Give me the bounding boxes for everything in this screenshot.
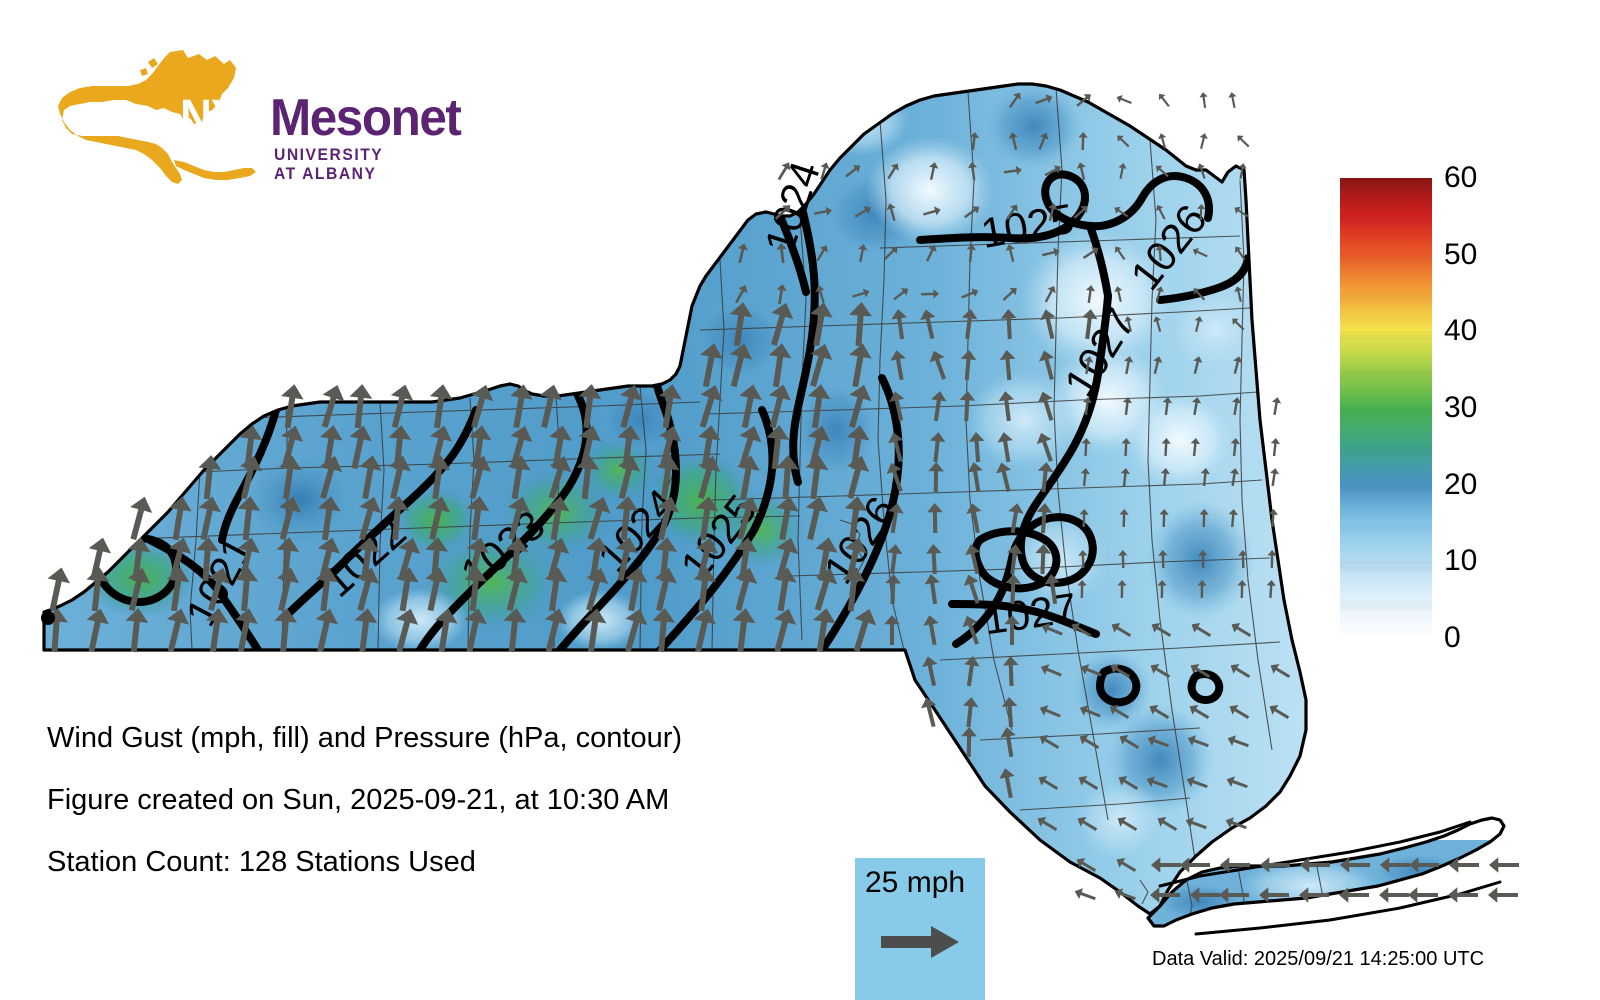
wind-arrow [1270, 396, 1282, 415]
wind-arrow [1156, 91, 1172, 109]
wind-arrow [1073, 886, 1098, 904]
wind-arrow [1268, 467, 1280, 486]
wind-arrow [1269, 438, 1280, 457]
station-marker [41, 611, 55, 625]
colorbar-tick-50: 50 [1444, 240, 1477, 270]
wind-scale-label: 25 mph [865, 866, 965, 900]
colorbar-tick-20: 20 [1444, 470, 1477, 500]
colorbar-tick-40: 40 [1444, 316, 1477, 346]
colorbar-tick-10: 10 [1444, 546, 1477, 576]
caption-created-line: Figure created on Sun, 2025-09-21, at 10… [47, 784, 669, 817]
wind-arrow [1197, 132, 1209, 150]
data-valid-timestamp: Data Valid: 2025/09/21 14:25:00 UTC [1152, 948, 1484, 971]
gust-colorbar: 0102030405060 [1340, 178, 1432, 638]
weather-map-figure: NYS Mesonet UNIVERSITY AT ALBANY [0, 0, 1600, 1000]
wind-arrow [1199, 91, 1209, 108]
wind-arrow [1234, 132, 1251, 149]
wind-arrow-icon [879, 920, 961, 964]
wind-arrow [1379, 887, 1409, 903]
caption-variable-line: Wind Gust (mph, fill) and Pressure (hPa,… [47, 722, 682, 755]
caption-station-count: Station Count: 128 Stations Used [47, 846, 476, 879]
wind-arrow [1488, 887, 1518, 903]
wind-scale-legend: 25 mph [855, 858, 985, 1000]
colorbar-tick-60: 60 [1444, 163, 1477, 193]
colorbar-tick-30: 30 [1444, 393, 1477, 423]
wind-arrow [1227, 91, 1238, 108]
wind-arrow [1115, 93, 1133, 107]
colorbar-gradient [1340, 178, 1432, 638]
wind-arrow [1489, 857, 1519, 873]
colorbar-tick-0: 0 [1444, 623, 1461, 653]
